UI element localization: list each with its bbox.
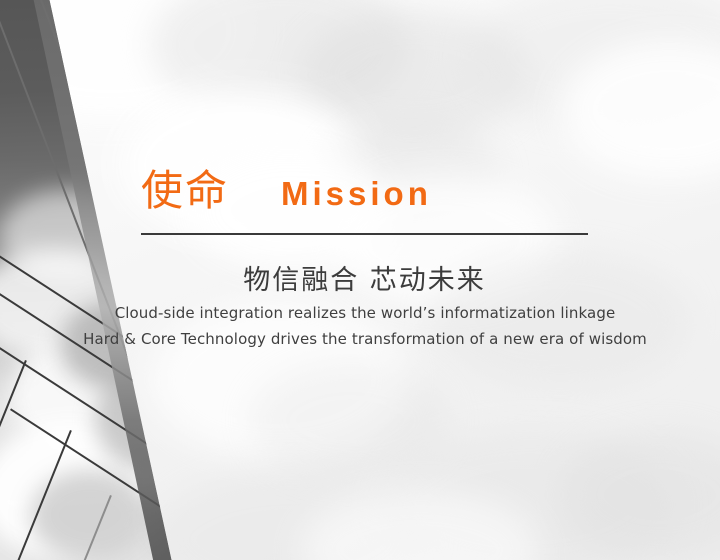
banner-content: 使命 Mission 物信融合 芯动未来 Cloud-side integrat… bbox=[0, 0, 720, 560]
mission-heading: 使命 Mission bbox=[141, 170, 591, 212]
tagline-block: Cloud-side integration realizes the worl… bbox=[60, 303, 670, 355]
tagline-line-2: Hard & Core Technology drives the transf… bbox=[60, 329, 670, 350]
heading-chinese: 使命 bbox=[141, 170, 229, 212]
tagline-line-1: Cloud-side integration realizes the worl… bbox=[60, 303, 670, 324]
subtitle-chinese: 物信融合 芯动未来 bbox=[141, 258, 588, 297]
mission-banner: 使命 Mission 物信融合 芯动未来 Cloud-side integrat… bbox=[0, 0, 720, 560]
heading-divider bbox=[141, 233, 588, 235]
heading-english: Mission bbox=[281, 177, 432, 210]
